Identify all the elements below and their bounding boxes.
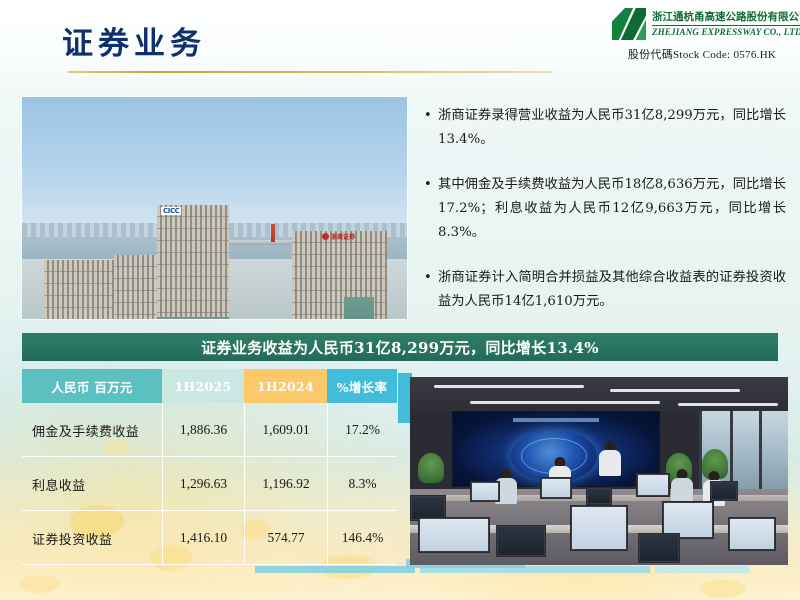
- building-center-podium-glass: [157, 317, 229, 319]
- building-sign-cicc: CICC: [161, 207, 181, 215]
- row-label: 利息收益: [22, 475, 162, 494]
- table-row: 证券投资收益 1,416.10 574.77 146.4%: [22, 511, 397, 565]
- cell-growth: 146.4%: [327, 511, 397, 565]
- table-row: 佣金及手续费收益 1,886.36 1,609.01 17.2%: [22, 403, 397, 457]
- ceiling-light: [434, 385, 584, 388]
- monitor: [418, 517, 490, 553]
- bullet-text: 浙商证券录得营业收益为人民币31亿8,299万元，同比增长13.4%。: [438, 104, 786, 152]
- ceiling-light: [610, 389, 740, 392]
- bullet-item: • 浙商证券计入简明合并损益及其他综合收益表的证券投资收益为人民币14亿1,61…: [424, 266, 786, 314]
- expressway-logo-icon: [612, 8, 646, 40]
- monitor: [470, 481, 500, 502]
- cell-1h2024: 1,609.01: [244, 403, 327, 457]
- table-row: 利息收益 1,296.63 1,196.92 8.3%: [22, 457, 397, 511]
- company-name-en: ZHEJIANG EXPRESSWAY CO., LTD.: [652, 25, 800, 38]
- cell-1h2024: 574.77: [244, 511, 327, 565]
- cell-1h2024: 1,196.92: [244, 457, 327, 511]
- bullet-item: • 浙商证券录得营业收益为人民币31亿8,299万元，同比增长13.4%。: [424, 104, 786, 152]
- photo-office-buildings: CICC 浙商证券: [22, 97, 407, 319]
- monitor: [728, 517, 776, 551]
- building-left-annex: [114, 255, 162, 319]
- monitor: [636, 473, 670, 497]
- row-label: 佣金及手续费收益: [22, 421, 162, 440]
- table-header-1h2024: 1H2024: [244, 369, 327, 403]
- bullet-marker-icon: •: [424, 266, 438, 314]
- table-header-row: 人民币 百万元 1H2025 1H2024 %增长率: [22, 369, 397, 403]
- page-title: 证券业务: [62, 18, 206, 63]
- table-header-growth: %增长率: [327, 369, 397, 403]
- bullet-marker-icon: •: [424, 104, 438, 152]
- company-name-cn: 浙江通杭甬高速公路股份有限公司: [652, 11, 800, 24]
- section-banner: 证券业务收益为人民币31亿8,299万元，同比增长13.4%: [22, 333, 778, 361]
- cell-1h2025: 1,296.63: [162, 457, 244, 511]
- table-header-unit: 人民币 百万元: [22, 369, 162, 403]
- bullet-list: • 浙商证券录得营业收益为人民币31亿8,299万元，同比增长13.4%。 • …: [424, 104, 786, 335]
- decor-stripe-1: [255, 566, 415, 573]
- row-label: 证券投资收益: [22, 529, 162, 548]
- cell-1h2025: 1,886.36: [162, 403, 244, 457]
- company-logo-block: 浙江通杭甬高速公路股份有限公司 ZHEJIANG EXPRESSWAY CO.,…: [612, 8, 792, 62]
- table-header-1h2025: 1H2025: [162, 369, 244, 403]
- potted-plant: [418, 453, 444, 483]
- stock-code-label: 股份代碼Stock Code: 0576.HK: [612, 46, 792, 62]
- monitor: [586, 487, 612, 505]
- slide-canvas: 证券业务 浙江通杭甬高速公路股份有限公司 ZHEJIANG EXPRESSWAY…: [0, 0, 800, 600]
- monitor: [710, 481, 738, 501]
- building-right-podium-glass: [344, 297, 374, 319]
- photo-trading-floor-wrap: [398, 373, 790, 569]
- bullet-text: 浙商证券计入简明合并损益及其他综合收益表的证券投资收益为人民币14亿1,610万…: [438, 266, 786, 314]
- section-banner-text: 证券业务收益为人民币31亿8,299万元，同比增长13.4%: [201, 337, 599, 358]
- building-center-tower: [157, 205, 229, 319]
- cell-1h2025: 1,416.10: [162, 511, 244, 565]
- ceiling-light: [470, 401, 660, 404]
- photo-trading-floor: [410, 377, 788, 565]
- securities-revenue-table: 人民币 百万元 1H2025 1H2024 %增长率 佣金及手续费收益 1,88…: [22, 369, 397, 565]
- cell-growth: 8.3%: [327, 457, 397, 511]
- cell-growth: 17.2%: [327, 403, 397, 457]
- monitor: [638, 533, 680, 563]
- bullet-item: • 其中佣金及手续费收益为人民币18亿8,636万元，同比增长17.2%；利息收…: [424, 173, 786, 245]
- bullet-text: 其中佣金及手续费收益为人民币18亿8,636万元，同比增长17.2%；利息收益为…: [438, 173, 786, 245]
- bullet-marker-icon: •: [424, 173, 438, 245]
- monitor: [540, 477, 572, 499]
- ceiling-light: [678, 403, 778, 406]
- zheshang-logo-icon: [322, 233, 329, 240]
- title-underline: [68, 71, 553, 73]
- building-sign-zheshang: 浙商证券: [322, 232, 355, 241]
- monitor: [570, 505, 628, 551]
- monitor: [496, 525, 546, 557]
